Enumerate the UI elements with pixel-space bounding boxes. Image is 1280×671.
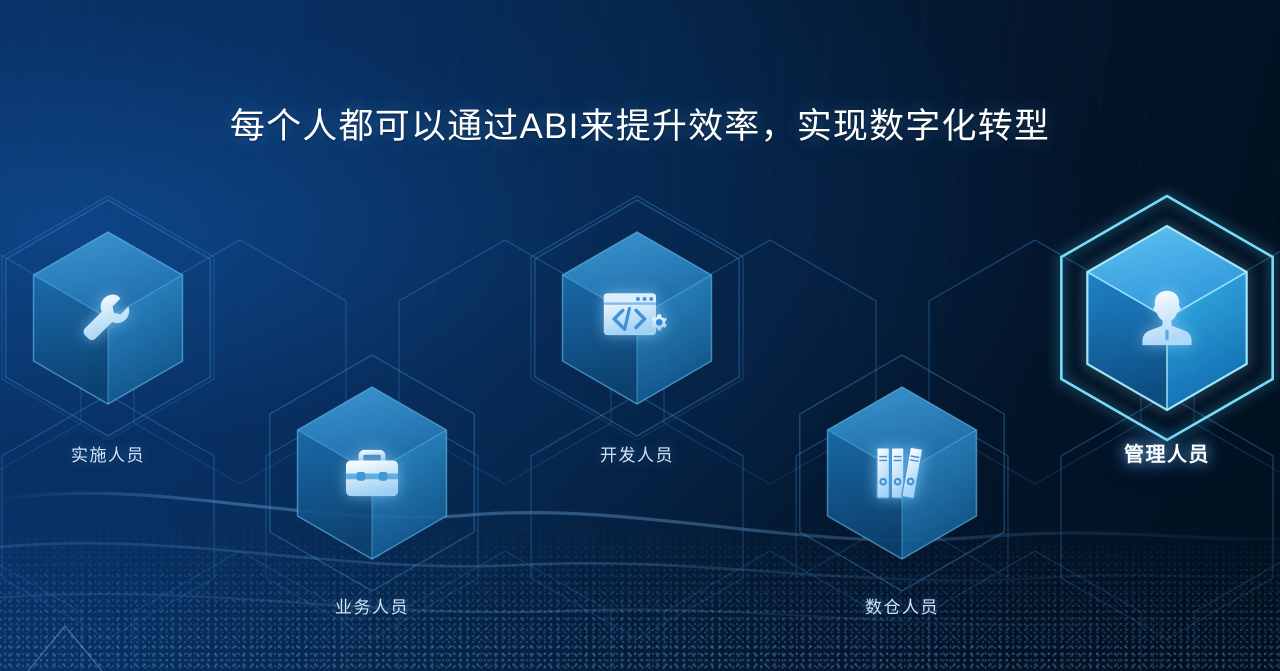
page-title: 每个人都可以通过ABI来提升效率，实现数字化转型 [0,98,1280,149]
role-label-business[interactable]: 业务人员 [252,593,492,618]
slide-canvas: 每个人都可以通过ABI来提升效率，实现数字化转型 实施人员业务人员开发人员数仓人… [0,0,1280,671]
role-node-management[interactable] [1002,153,1280,483]
role-label-data-warehouse[interactable]: 数仓人员 [782,593,1022,618]
role-hexagon-cube-active[interactable] [1002,153,1280,483]
role-label-implementation[interactable]: 实施人员 [0,441,228,466]
role-label-developer[interactable]: 开发人员 [517,441,757,466]
role-label-management[interactable]: 管理人员 [1047,438,1280,467]
